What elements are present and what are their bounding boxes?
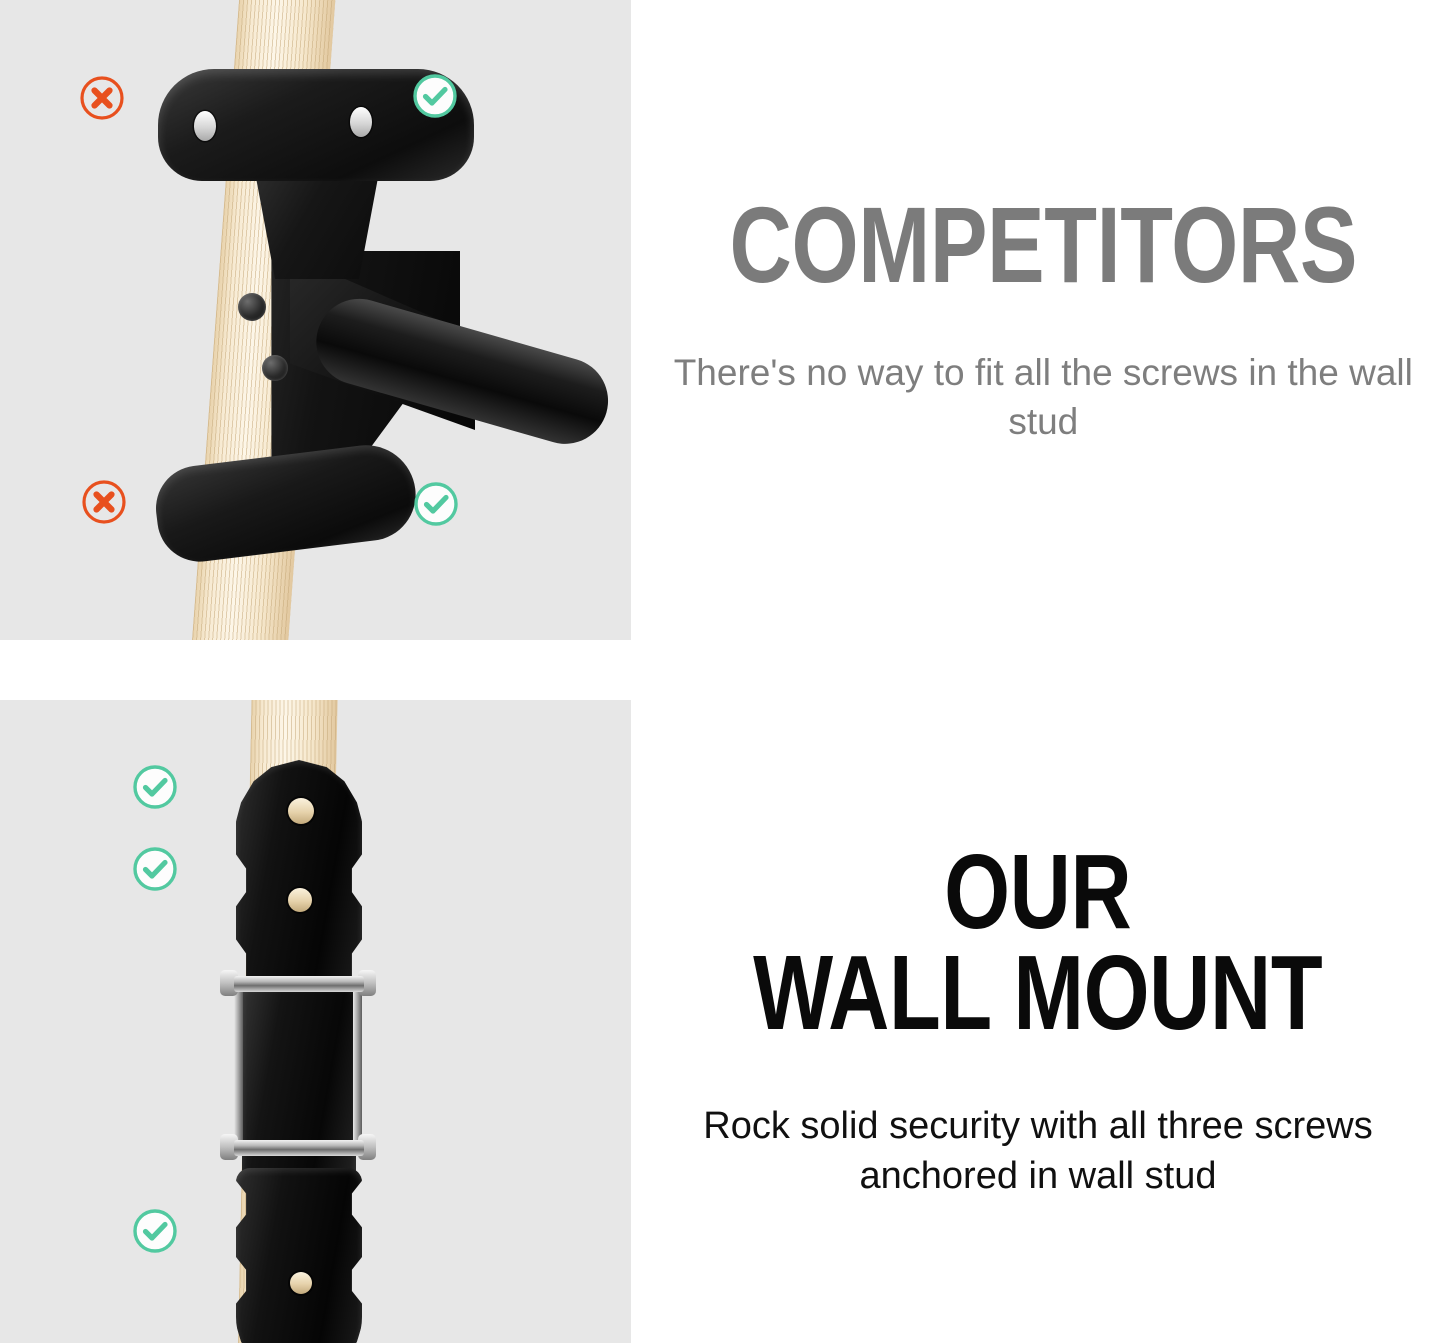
cross-icon — [81, 479, 127, 525]
our-headline: OUR WALL MOUNT — [753, 842, 1322, 1046]
our-subcopy: Rock solid security with all three screw… — [651, 1101, 1425, 1201]
section-our-wall-mount: OUR WALL MOUNT Rock solid security with … — [0, 700, 1445, 1343]
competitor-headline: COMPETITORS — [729, 193, 1357, 297]
screw-hole — [288, 798, 314, 824]
our-headline-line-2: WALL MOUNT — [753, 934, 1322, 1052]
section-competitors: COMPETITORS There's no way to fit all th… — [0, 0, 1445, 640]
bracket-side-rail — [234, 986, 243, 1154]
bolt-head — [238, 293, 266, 321]
screw-hole — [194, 111, 216, 141]
check-icon — [132, 764, 178, 810]
our-bracket — [212, 760, 384, 1320]
our-product-photo — [0, 700, 631, 1343]
cross-icon — [79, 75, 125, 121]
check-icon — [132, 846, 178, 892]
screw-hole — [290, 1272, 312, 1294]
screw-hole — [350, 107, 372, 137]
check-icon — [413, 481, 459, 527]
bracket-bottom-plate — [236, 1168, 362, 1343]
our-copy-block: OUR WALL MOUNT Rock solid security with … — [631, 700, 1445, 1343]
bracket-side-rail — [353, 986, 362, 1154]
competitor-copy-block: COMPETITORS There's no way to fit all th… — [631, 0, 1445, 640]
screw-hole — [288, 888, 312, 912]
our-headline-line-1: OUR — [944, 833, 1131, 951]
hinge-bar — [234, 1140, 364, 1156]
check-icon — [132, 1208, 178, 1254]
bracket-bottom-wing-plate — [151, 440, 421, 567]
bolt-head — [262, 355, 288, 381]
bracket-top-plate — [236, 760, 362, 996]
competitor-subcopy: There's no way to fit all the screws in … — [651, 349, 1436, 447]
competitor-product-photo — [0, 0, 631, 640]
check-icon — [412, 73, 458, 119]
hinge-bar — [234, 976, 364, 992]
